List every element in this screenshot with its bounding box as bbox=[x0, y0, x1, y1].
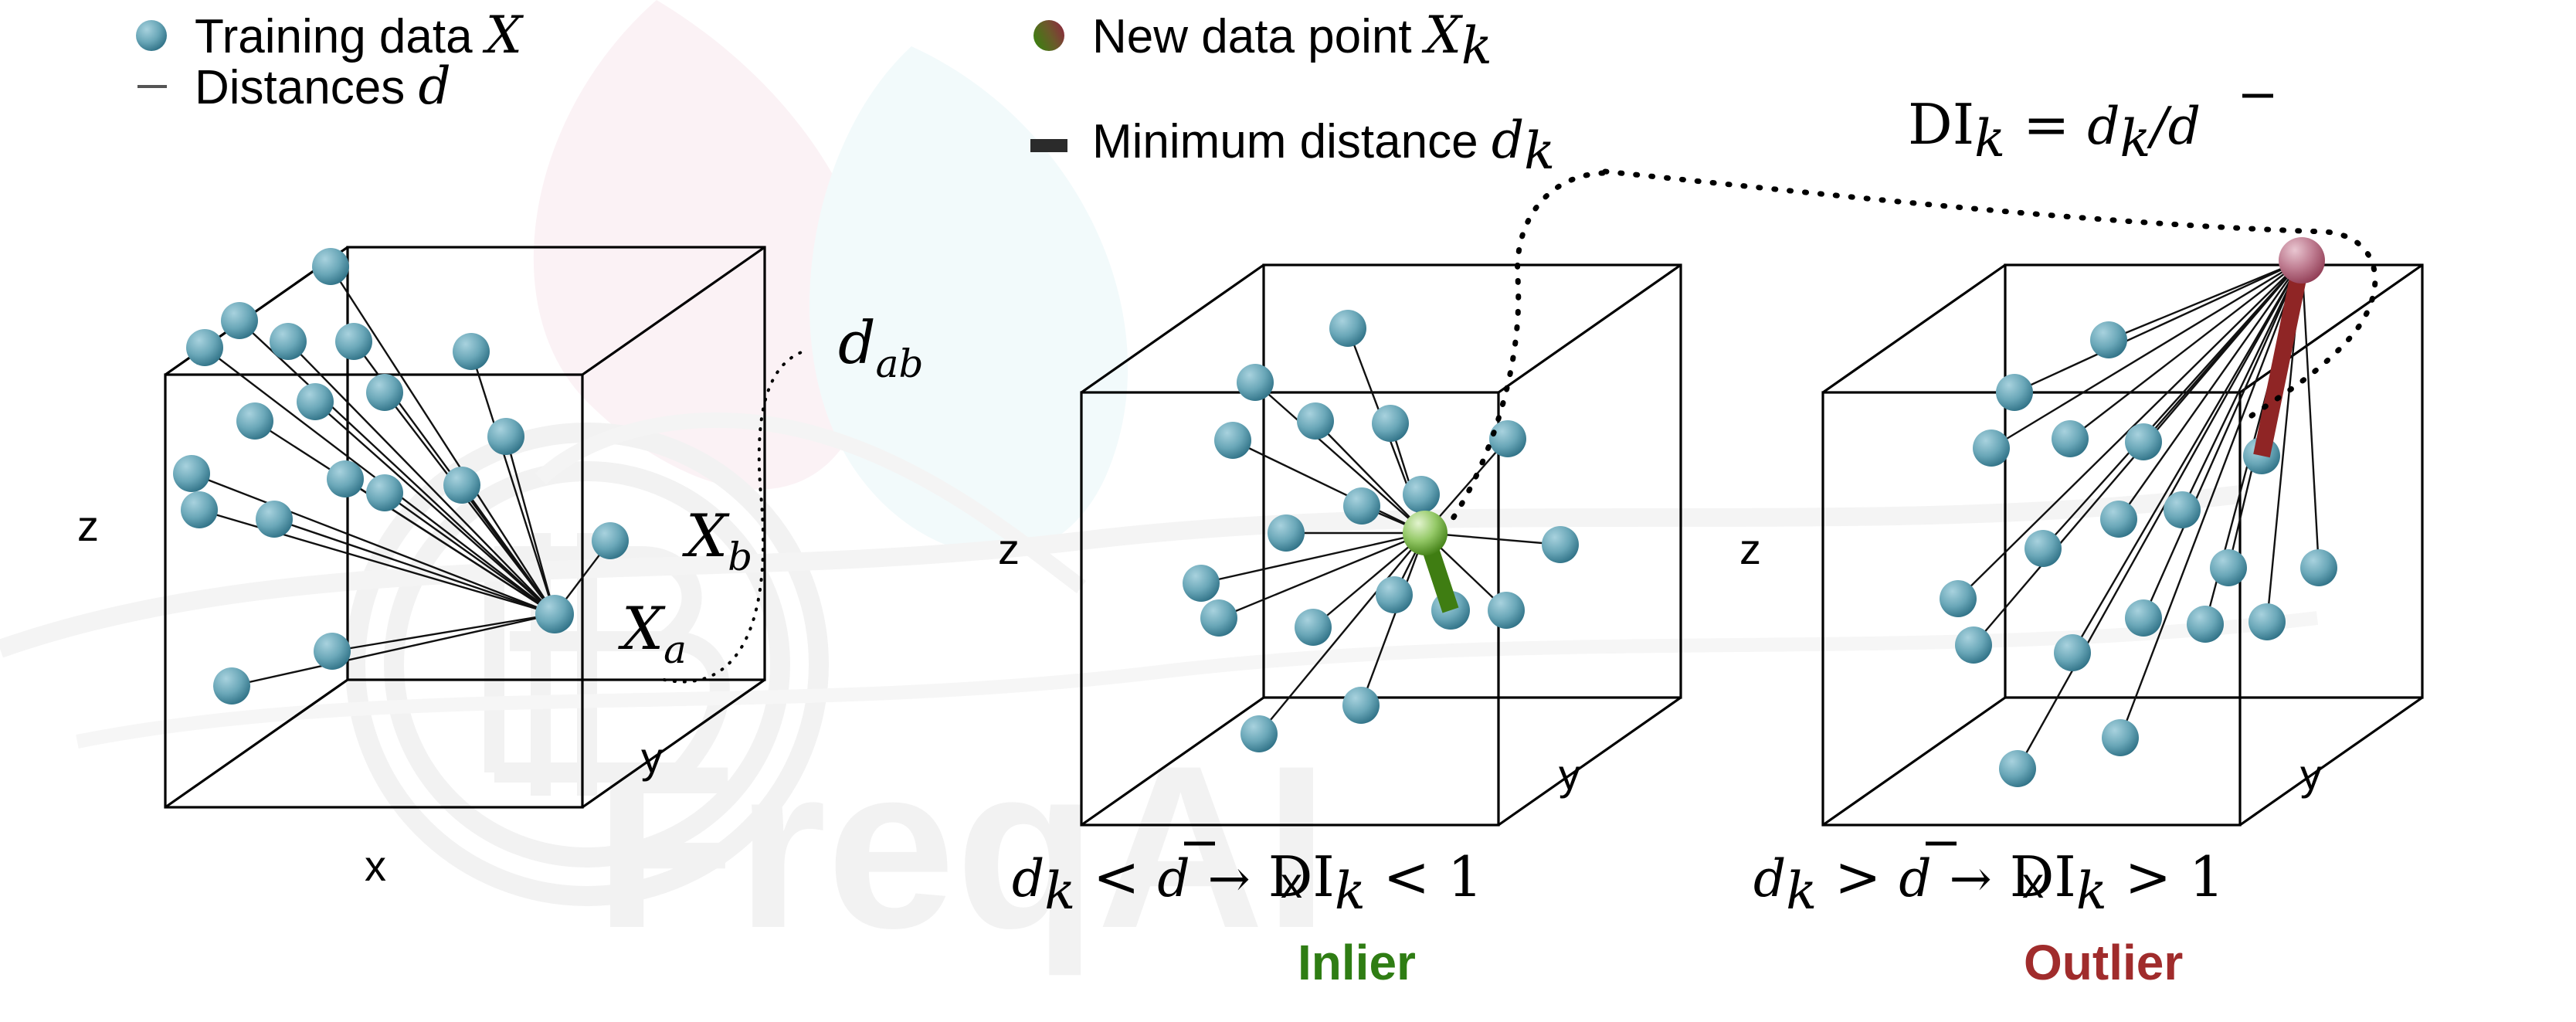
training-point bbox=[1955, 626, 1992, 664]
training-point bbox=[1342, 687, 1380, 724]
training-point bbox=[327, 460, 364, 497]
connector-dk-inlier bbox=[1448, 173, 1603, 525]
training-point bbox=[1329, 310, 1366, 347]
new-data-point-inlier bbox=[1403, 511, 1448, 555]
distance-lines-outlier bbox=[1958, 260, 2319, 769]
training-point bbox=[312, 248, 349, 285]
connector-dk-outlier bbox=[1605, 171, 2375, 421]
training-point bbox=[1343, 487, 1380, 525]
training-point bbox=[2054, 634, 2091, 671]
diagram-layer: Training data X Distances d New data poi… bbox=[0, 0, 2576, 1022]
legend-label-training: Training data X bbox=[195, 5, 524, 65]
training-point bbox=[1376, 576, 1413, 613]
legend-label-new-point: New data point Xk bbox=[1092, 5, 1492, 76]
axis-label-y-outlier: y bbox=[2300, 750, 2322, 799]
training-point bbox=[2210, 549, 2247, 586]
training-point bbox=[2164, 491, 2201, 528]
cube-wireframe-training bbox=[165, 247, 765, 807]
panel-inlier: z x y bbox=[998, 265, 1681, 907]
training-point bbox=[487, 418, 524, 455]
minimum-distance-marker bbox=[1030, 139, 1067, 152]
training-point bbox=[1295, 609, 1332, 646]
label-dab: dab bbox=[838, 308, 923, 386]
training-point bbox=[1542, 526, 1579, 563]
training-point bbox=[2090, 321, 2127, 358]
training-point bbox=[1999, 750, 2036, 787]
panel-training: z x y bbox=[77, 247, 923, 890]
axis-label-y-inlier: y bbox=[1559, 750, 1580, 799]
training-point bbox=[2300, 549, 2337, 586]
training-point bbox=[1200, 599, 1237, 637]
training-point bbox=[366, 374, 403, 411]
training-point bbox=[256, 501, 293, 538]
training-point bbox=[1237, 364, 1274, 401]
panel-outlier: z x y bbox=[1739, 237, 2422, 907]
label-xa: Xa bbox=[618, 594, 687, 672]
legend-label-min-distance: Minimum distance dk bbox=[1092, 110, 1555, 181]
training-point bbox=[297, 383, 334, 420]
axis-label-z-inlier: z bbox=[998, 525, 1020, 573]
legend-label-distances: Distances d bbox=[195, 56, 451, 116]
axis-label-x-training: x bbox=[365, 841, 386, 890]
training-point-marker bbox=[136, 20, 167, 51]
training-point bbox=[2248, 603, 2286, 640]
training-point bbox=[1488, 592, 1525, 629]
training-point bbox=[1489, 420, 1526, 457]
label-xb: Xb bbox=[682, 501, 752, 579]
axis-label-z-outlier: z bbox=[1739, 525, 1761, 573]
cube-wireframe-inlier bbox=[1081, 265, 1681, 825]
training-point bbox=[335, 323, 372, 360]
formula-di-text: DIk = dk/d bbox=[1908, 92, 2201, 168]
legend: Training data X Distances d New data poi… bbox=[136, 5, 1555, 181]
training-point bbox=[1403, 476, 1440, 513]
training-point bbox=[1372, 405, 1409, 442]
training-points-inlier bbox=[1183, 310, 1579, 752]
caption-outlier-formula: dk > d → DIk > 1 bbox=[1753, 844, 2225, 921]
training-point bbox=[2125, 423, 2162, 460]
caption-outlier-group: dk > d → DIk > 1 Outlier bbox=[1753, 844, 2225, 990]
caption-outlier-label: Outlier bbox=[2024, 935, 2183, 990]
training-point bbox=[270, 323, 307, 360]
training-point bbox=[236, 402, 273, 440]
caption-inlier-group: dk < d → DIk < 1 Inlier bbox=[1012, 844, 1483, 990]
training-point bbox=[1297, 402, 1334, 440]
caption-inlier-label: Inlier bbox=[1298, 935, 1416, 990]
new-data-point-outlier bbox=[2279, 237, 2325, 284]
training-point bbox=[1996, 374, 2033, 411]
training-point bbox=[221, 302, 258, 339]
training-point bbox=[2052, 420, 2089, 457]
training-point bbox=[186, 329, 223, 366]
training-point bbox=[1240, 715, 1278, 752]
new-data-point-marker bbox=[1033, 20, 1064, 51]
training-point-xa bbox=[535, 595, 574, 633]
training-point bbox=[1940, 580, 1977, 617]
formula-di: DIk = dk/d bbox=[1908, 92, 2273, 168]
caption-inlier-formula: dk < d → DIk < 1 bbox=[1012, 844, 1483, 921]
training-point bbox=[1214, 422, 1251, 459]
figure-root: FreqAI bbox=[0, 0, 2576, 1022]
training-point bbox=[453, 333, 490, 370]
training-point bbox=[2125, 599, 2162, 637]
training-point bbox=[1183, 565, 1220, 602]
training-points-training bbox=[173, 248, 629, 705]
training-point bbox=[181, 491, 218, 528]
training-point bbox=[1268, 514, 1305, 552]
training-point bbox=[213, 667, 250, 705]
training-point bbox=[443, 467, 480, 504]
training-point bbox=[1973, 430, 2010, 467]
axis-label-z-training: z bbox=[77, 501, 99, 550]
training-point bbox=[2102, 719, 2139, 756]
training-point bbox=[2100, 501, 2137, 538]
training-point-xb bbox=[592, 522, 629, 559]
training-point bbox=[314, 633, 351, 670]
training-point bbox=[2187, 606, 2224, 643]
training-point bbox=[173, 455, 210, 492]
training-point bbox=[366, 474, 403, 511]
axis-label-y-training: y bbox=[641, 733, 663, 782]
training-point bbox=[2024, 530, 2062, 567]
